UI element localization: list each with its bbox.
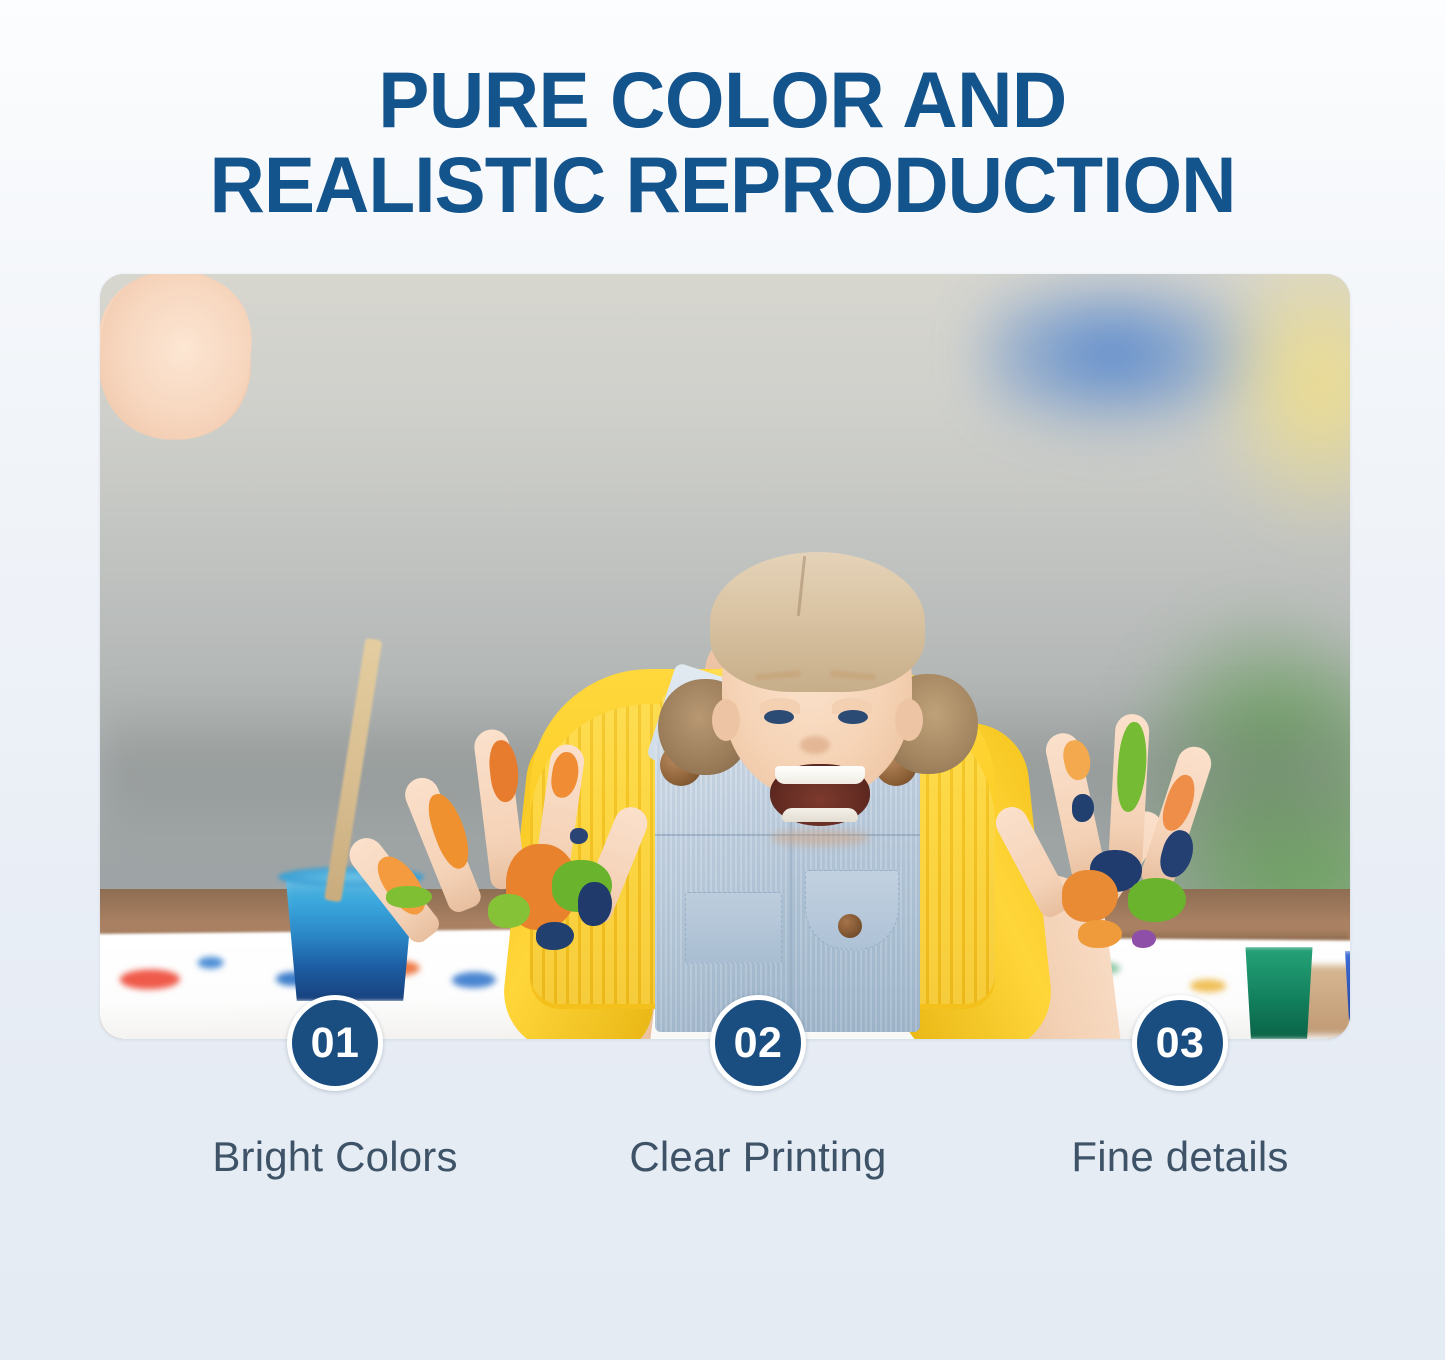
- feature-item-02: 02 Clear Printing: [593, 995, 923, 1181]
- painted-hand-right: [100, 274, 1350, 1039]
- page-title-line-1: PURE COLOR AND: [22, 57, 1424, 142]
- photo-illustration: [100, 274, 1350, 1039]
- feature-label-03: Fine details: [1015, 1133, 1345, 1181]
- feature-item-01: 01 Bright Colors: [170, 995, 500, 1181]
- feature-badge-03: 03: [1132, 995, 1228, 1091]
- page-title-line-2: REALISTIC REPRODUCTION: [22, 142, 1424, 227]
- promo-banner: PURE COLOR AND REALISTIC REPRODUCTION: [0, 0, 1445, 1360]
- feature-badge-02: 02: [710, 995, 806, 1091]
- feature-label-02: Clear Printing: [593, 1133, 923, 1181]
- child-figure: [100, 274, 1350, 1039]
- hero-photo: [100, 274, 1350, 1039]
- page-title: PURE COLOR AND REALISTIC REPRODUCTION: [22, 57, 1424, 227]
- feature-label-01: Bright Colors: [170, 1133, 500, 1181]
- feature-list: 01 Bright Colors 02 Clear Printing 03 Fi…: [0, 995, 1445, 1225]
- feature-item-03: 03 Fine details: [1015, 995, 1345, 1181]
- feature-badge-01: 01: [287, 995, 383, 1091]
